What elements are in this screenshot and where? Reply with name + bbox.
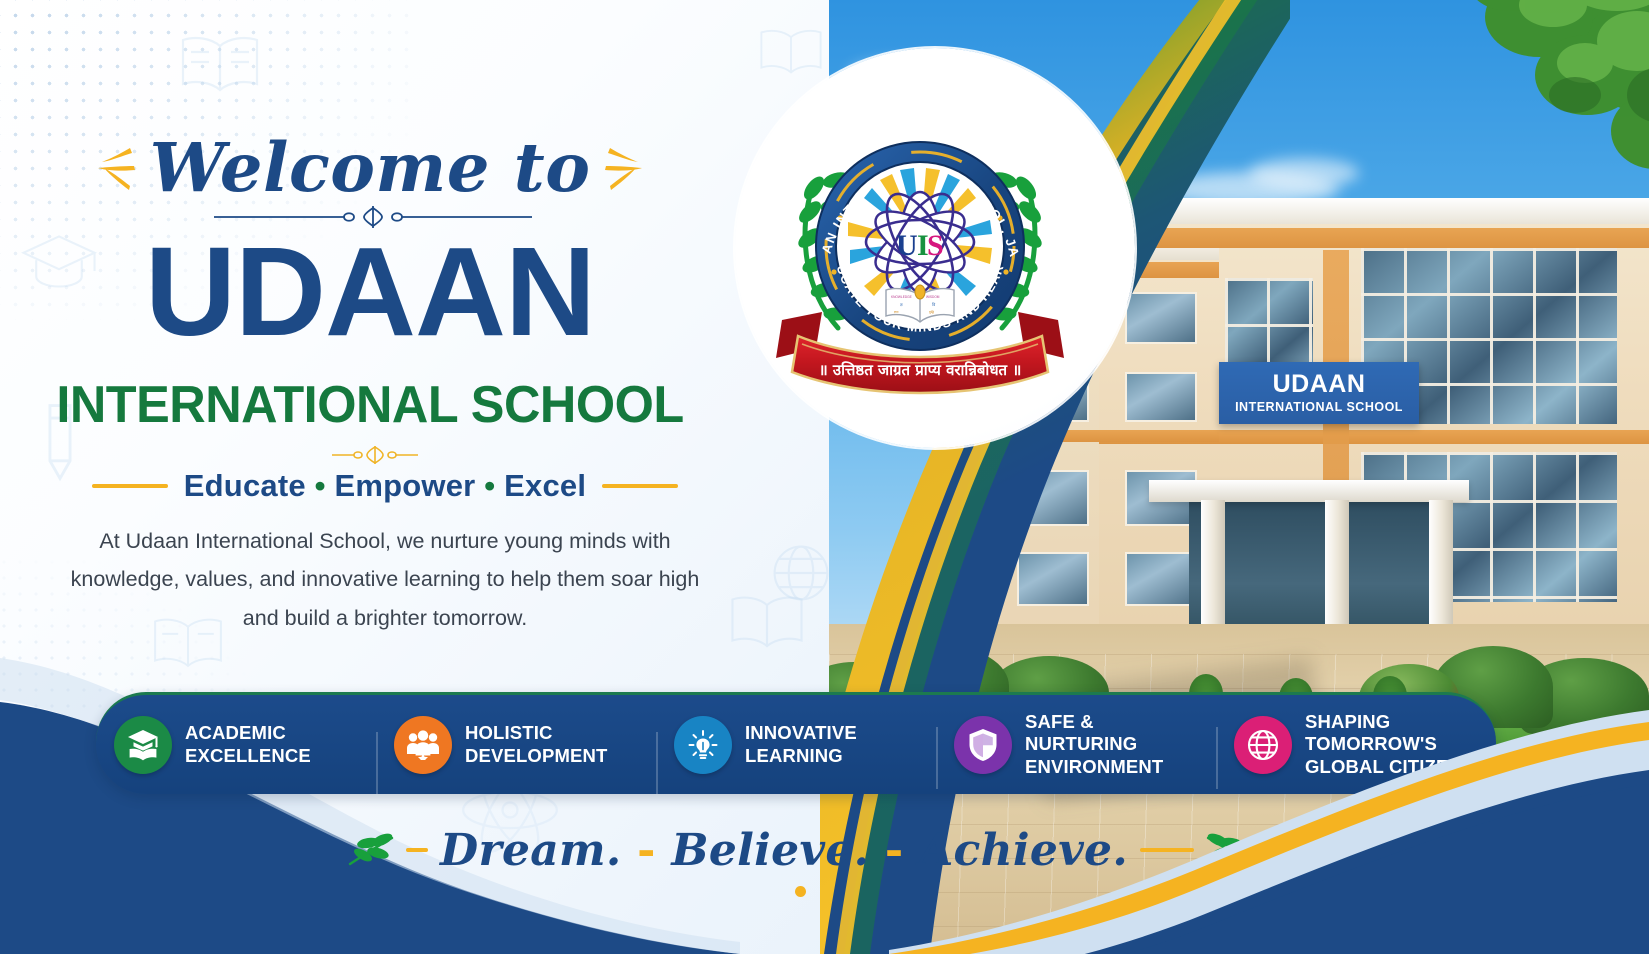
tagline-row: Educate • Empower • Excel	[60, 466, 710, 506]
badge-label-line2: EXCELLENCE	[185, 745, 311, 766]
lightbulb-icon	[674, 716, 732, 774]
svg-text:ज्ञ: ज्ञ	[900, 302, 903, 307]
people-group-icon	[394, 716, 452, 774]
bottom-rule-left	[406, 848, 428, 852]
badge-label-line2: LEARNING	[745, 745, 843, 766]
leaf-sprig-icon	[348, 830, 394, 870]
badge-label: INNOVATIVE LEARNING	[745, 722, 857, 767]
tagline-rule-left	[92, 484, 168, 488]
tagline-rule-right	[602, 484, 678, 488]
sparkle-burst-icon	[94, 140, 136, 194]
bottom-accent-dot	[795, 886, 806, 897]
badge-label: ACADEMIC EXCELLENCE	[185, 722, 311, 767]
emblem-monogram: U I S	[896, 229, 944, 262]
svg-text:U: U	[896, 229, 918, 262]
badge-label: HOLISTIC DEVELOPMENT	[465, 722, 607, 767]
svg-text:KNOWLEDGE: KNOWLEDGE	[891, 295, 912, 299]
emblem-ribbon-text: ॥ उत्तिष्ठत जाग्रत प्राप्य वरान्निबोधत ॥	[819, 361, 1022, 379]
tagline-separator-2: •	[484, 468, 495, 503]
svg-text:ज्ञान: ज्ञान	[894, 310, 899, 314]
badge-academic-excellence[interactable]: ACADEMIC EXCELLENCE	[96, 716, 376, 774]
intro-paragraph: At Udaan International School, we nurtur…	[55, 522, 715, 637]
graduation-cap-book-icon	[114, 716, 172, 774]
bottom-separator-1: -	[637, 825, 656, 876]
tagline-word-1: Educate	[184, 468, 306, 503]
open-book-watermark-icon	[175, 28, 265, 96]
welcome-text: Welcome to	[150, 134, 591, 201]
tagline-word-2: Empower	[335, 468, 476, 503]
tree-foliage-icon	[1349, 0, 1649, 210]
sparkle-burst-icon	[604, 140, 646, 194]
open-book-watermark-icon	[755, 22, 827, 78]
tagline: Educate • Empower • Excel	[184, 468, 586, 504]
svg-text:S: S	[927, 229, 944, 262]
welcome-heading-row: Welcome to	[80, 124, 660, 210]
small-ornament	[330, 446, 420, 464]
tagline-separator-1: •	[315, 468, 326, 503]
bottom-word-2: Believe.	[671, 825, 869, 876]
badge-holistic-development[interactable]: HOLISTIC DEVELOPMENT	[376, 716, 656, 774]
bottom-right-wave-decoration	[889, 674, 1649, 954]
bottom-word-1: Dream.	[440, 825, 622, 876]
svg-text:बुद्धि: बुद्धि	[929, 310, 935, 314]
page-subtitle: INTERNATIONAL SCHOOL	[50, 379, 690, 431]
tagline-word-3: Excel	[504, 468, 586, 503]
svg-text:WISDOM: WISDOM	[926, 295, 940, 299]
school-logo-emblem: UDAAN INTERNATIONAL SCHOOL, JAMUI EDUCAT…	[770, 96, 1070, 396]
school-welcome-banner: UDAAN INTERNATIONAL SCHOOL	[0, 0, 1649, 954]
page-title: UDAAN	[50, 228, 690, 357]
badge-label-line1: INNOVATIVE	[745, 722, 857, 743]
badge-label-line1: ACADEMIC	[185, 722, 286, 743]
badge-label-line2: DEVELOPMENT	[465, 745, 607, 766]
badge-label-line1: HOLISTIC	[465, 722, 553, 743]
